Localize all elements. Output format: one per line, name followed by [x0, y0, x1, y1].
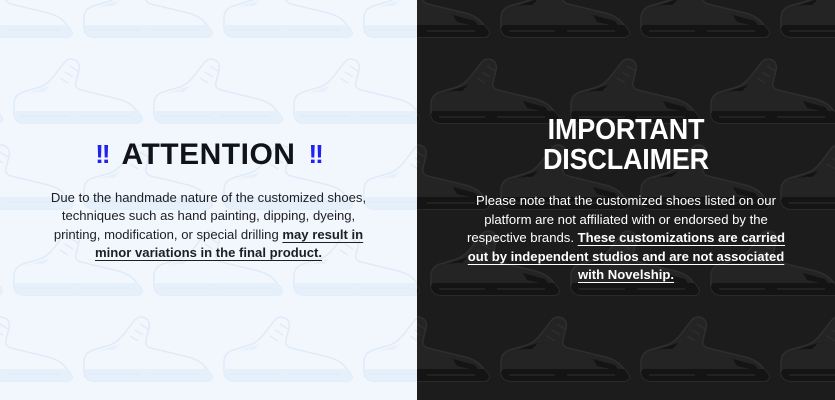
disclaimer-content: IMPORTANT DISCLAIMER Please note that th… — [417, 115, 835, 284]
attention-title: ATTENTION — [122, 138, 296, 172]
attention-heading: !! ATTENTION !! — [0, 138, 417, 172]
attention-panel: !! ATTENTION !! Due to the handmade natu… — [0, 0, 417, 400]
customization-disclaimer-banner: !! ATTENTION !! Due to the handmade natu… — [0, 0, 835, 400]
double-exclamation-left-icon: !! — [95, 141, 108, 167]
attention-content: !! ATTENTION !! Due to the handmade natu… — [0, 138, 417, 263]
disclaimer-title-line-2: DISCLAIMER — [543, 144, 709, 176]
attention-body: Due to the handmade nature of the custom… — [0, 189, 417, 263]
double-exclamation-right-icon: !! — [308, 141, 321, 167]
disclaimer-heading: IMPORTANT DISCLAIMER — [432, 115, 821, 175]
disclaimer-title-line-1: IMPORTANT — [548, 114, 705, 146]
disclaimer-panel: IMPORTANT DISCLAIMER Please note that th… — [417, 0, 835, 400]
disclaimer-body: Please note that the customized shoes li… — [417, 192, 835, 284]
